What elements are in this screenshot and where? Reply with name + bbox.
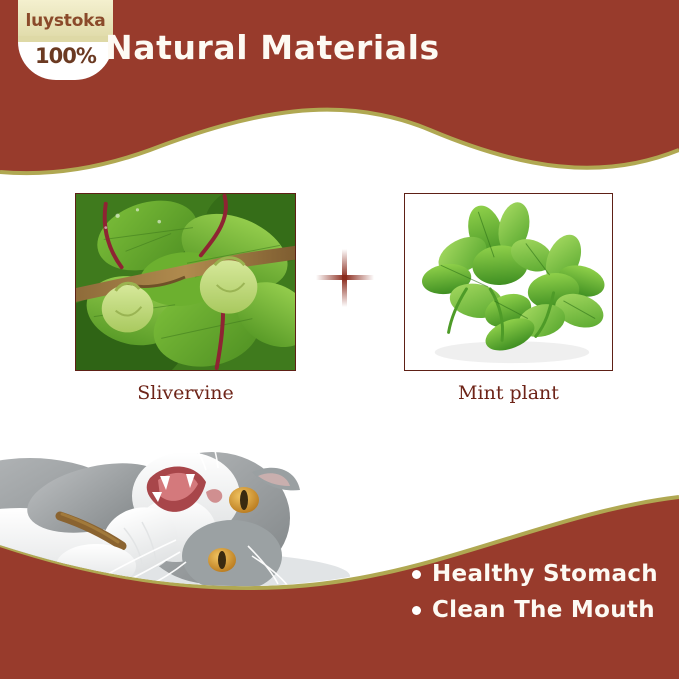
badge-percent-value: 100% <box>35 44 96 68</box>
ingredient-card-mint: Mint plant <box>404 193 613 404</box>
bullet-icon <box>412 606 421 615</box>
benefit-item-clean-the-mouth: Clean The Mouth <box>412 597 662 623</box>
benefit-label-clean-the-mouth: Clean The Mouth <box>432 597 655 623</box>
mint-photo <box>405 194 612 370</box>
benefit-item-healthy-stomach: Healthy Stomach <box>412 561 662 587</box>
bullet-icon <box>412 570 421 579</box>
silvervine-photo <box>76 194 295 370</box>
silvervine-photo-frame <box>75 193 296 371</box>
ingredient-card-silvervine: Slivervine <box>75 193 296 404</box>
badge-percent-plate: 100% <box>18 42 113 80</box>
product-infographic: luystoka 100% Natural Materials <box>0 0 679 679</box>
benefits-list: Healthy Stomach Clean The Mouth <box>412 561 662 633</box>
ingredient-caption-mint: Mint plant <box>404 382 613 404</box>
mint-photo-frame <box>404 193 613 371</box>
benefit-label-healthy-stomach: Healthy Stomach <box>432 561 658 587</box>
brand-badge: luystoka 100% <box>18 0 113 80</box>
page-title: Natural Materials <box>105 28 440 67</box>
plus-icon <box>316 249 374 307</box>
badge-brand-name: luystoka <box>25 11 105 31</box>
ingredient-caption-silvervine: Slivervine <box>75 382 296 404</box>
